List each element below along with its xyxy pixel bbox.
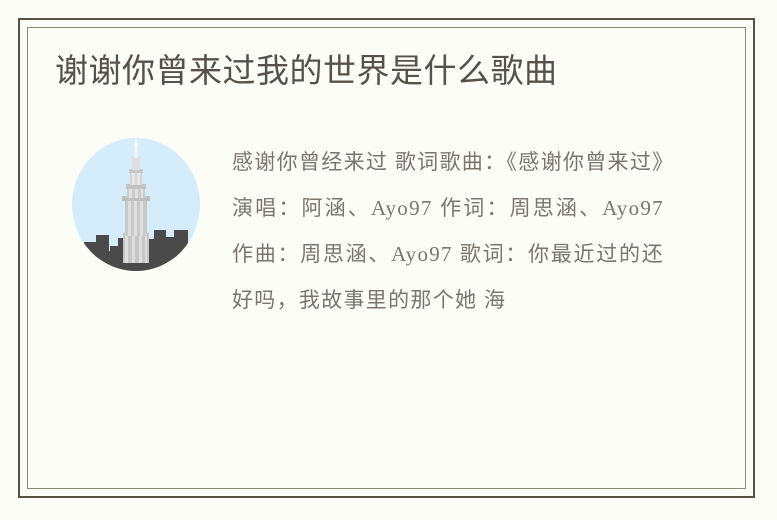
article-thumbnail[interactable] [72,138,200,271]
empire-state-building-icon [72,138,200,271]
page-root: 谢谢你曾来过我的世界是什么歌曲 [0,0,777,520]
page-title: 谢谢你曾来过我的世界是什么歌曲 [54,46,655,95]
article-outer-border: 谢谢你曾来过我的世界是什么歌曲 [18,18,755,498]
article-excerpt: 感谢你曾经来过 歌词歌曲：《感谢你曾来过》演唱：阿涵、Ayo97 作词：周思涵、… [232,139,664,323]
article-entry: 感谢你曾经来过 歌词歌曲：《感谢你曾来过》演唱：阿涵、Ayo97 作词：周思涵、… [54,138,719,323]
thumbnail-circle [72,138,200,271]
article-content: 谢谢你曾来过我的世界是什么歌曲 [20,20,753,496]
